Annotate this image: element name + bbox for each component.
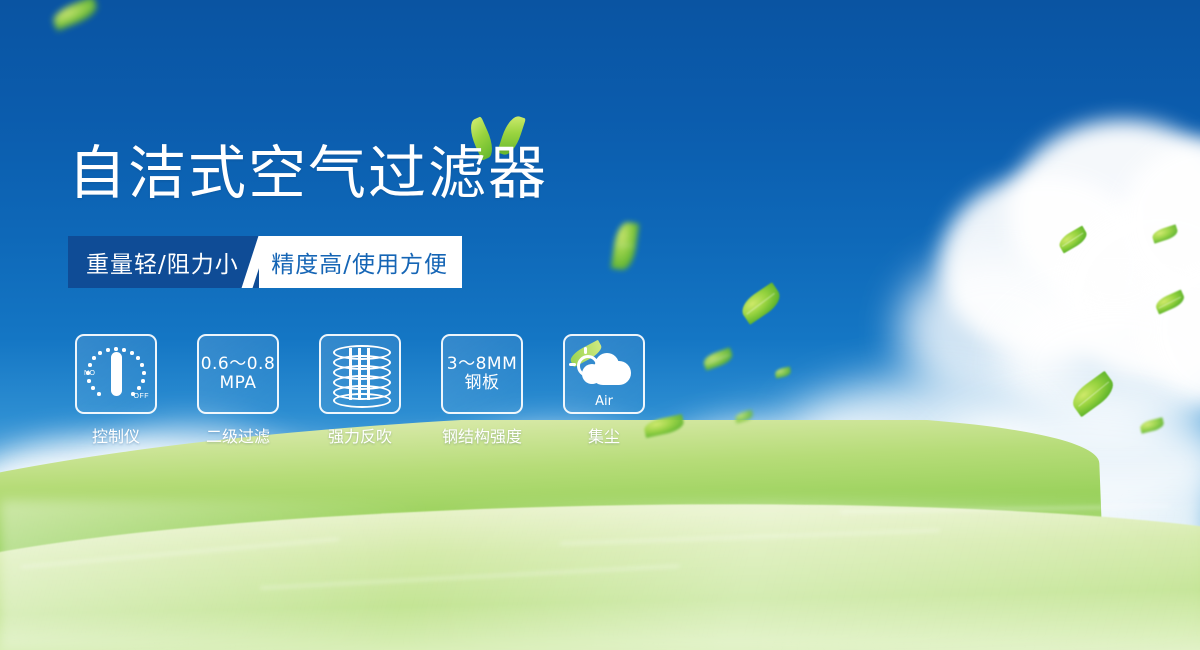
feature-item-pressure[interactable]: 0.6～0.8 MPA 二级过滤 — [190, 334, 286, 447]
tagline-left: 重量轻/阻力小 — [68, 236, 259, 288]
feature-caption: 控制仪 — [92, 423, 140, 447]
feature-value-line2: MPA — [220, 374, 257, 393]
sun-ray — [569, 363, 576, 366]
tagline-banner: 重量轻/阻力小 精度高/使用方便 — [68, 236, 462, 288]
filter-coil-icon — [333, 345, 387, 403]
feature-item-dust[interactable]: Air 集尘 — [556, 334, 652, 447]
page-title: 自洁式空气过滤器 — [68, 144, 548, 202]
gauge-needle — [111, 352, 122, 396]
cloud-body — [591, 361, 631, 385]
gauge-icon: NO OFF — [85, 345, 147, 403]
feature-item-blowback[interactable]: 强力反吹 — [312, 334, 408, 447]
grass-highlight — [0, 500, 1200, 650]
feature-caption: 集尘 — [588, 423, 620, 447]
leaf-vein — [616, 244, 634, 247]
feature-item-control[interactable]: NO OFF 控制仪 — [68, 334, 164, 447]
feature-icon-box: Air — [563, 334, 645, 414]
gauge-label-off: OFF — [134, 393, 150, 400]
hero-banner: 自洁式空气过滤器 重量轻/阻力小 精度高/使用方便 — [0, 0, 1200, 650]
sun-ray — [584, 347, 587, 354]
feature-value-line2: 钢板 — [465, 374, 500, 393]
feature-value-line1: 0.6～0.8 — [201, 355, 276, 374]
tagline-right: 精度高/使用方便 — [251, 236, 462, 288]
feature-icon-box: NO OFF — [75, 334, 157, 414]
gauge-label-no: NO — [84, 370, 96, 377]
feature-item-steel[interactable]: 3～8MM 钢板 钢结构强度 — [434, 334, 530, 447]
feature-icon-box: 3～8MM 钢板 — [441, 334, 523, 414]
air-label: Air — [575, 394, 633, 409]
feature-caption: 二级过滤 — [206, 423, 270, 447]
feature-icon-box: 0.6～0.8 MPA — [197, 334, 279, 414]
cloud-air-icon: Air — [575, 351, 633, 397]
feature-value-line1: 3～8MM — [447, 355, 517, 374]
feature-list: NO OFF 控制仪 0.6～0.8 MPA 二级过滤 — [68, 334, 652, 447]
grass-field — [0, 420, 1200, 650]
feature-caption: 强力反吹 — [328, 423, 392, 447]
feature-caption: 钢结构强度 — [442, 423, 522, 447]
feature-icon-box — [319, 334, 401, 414]
